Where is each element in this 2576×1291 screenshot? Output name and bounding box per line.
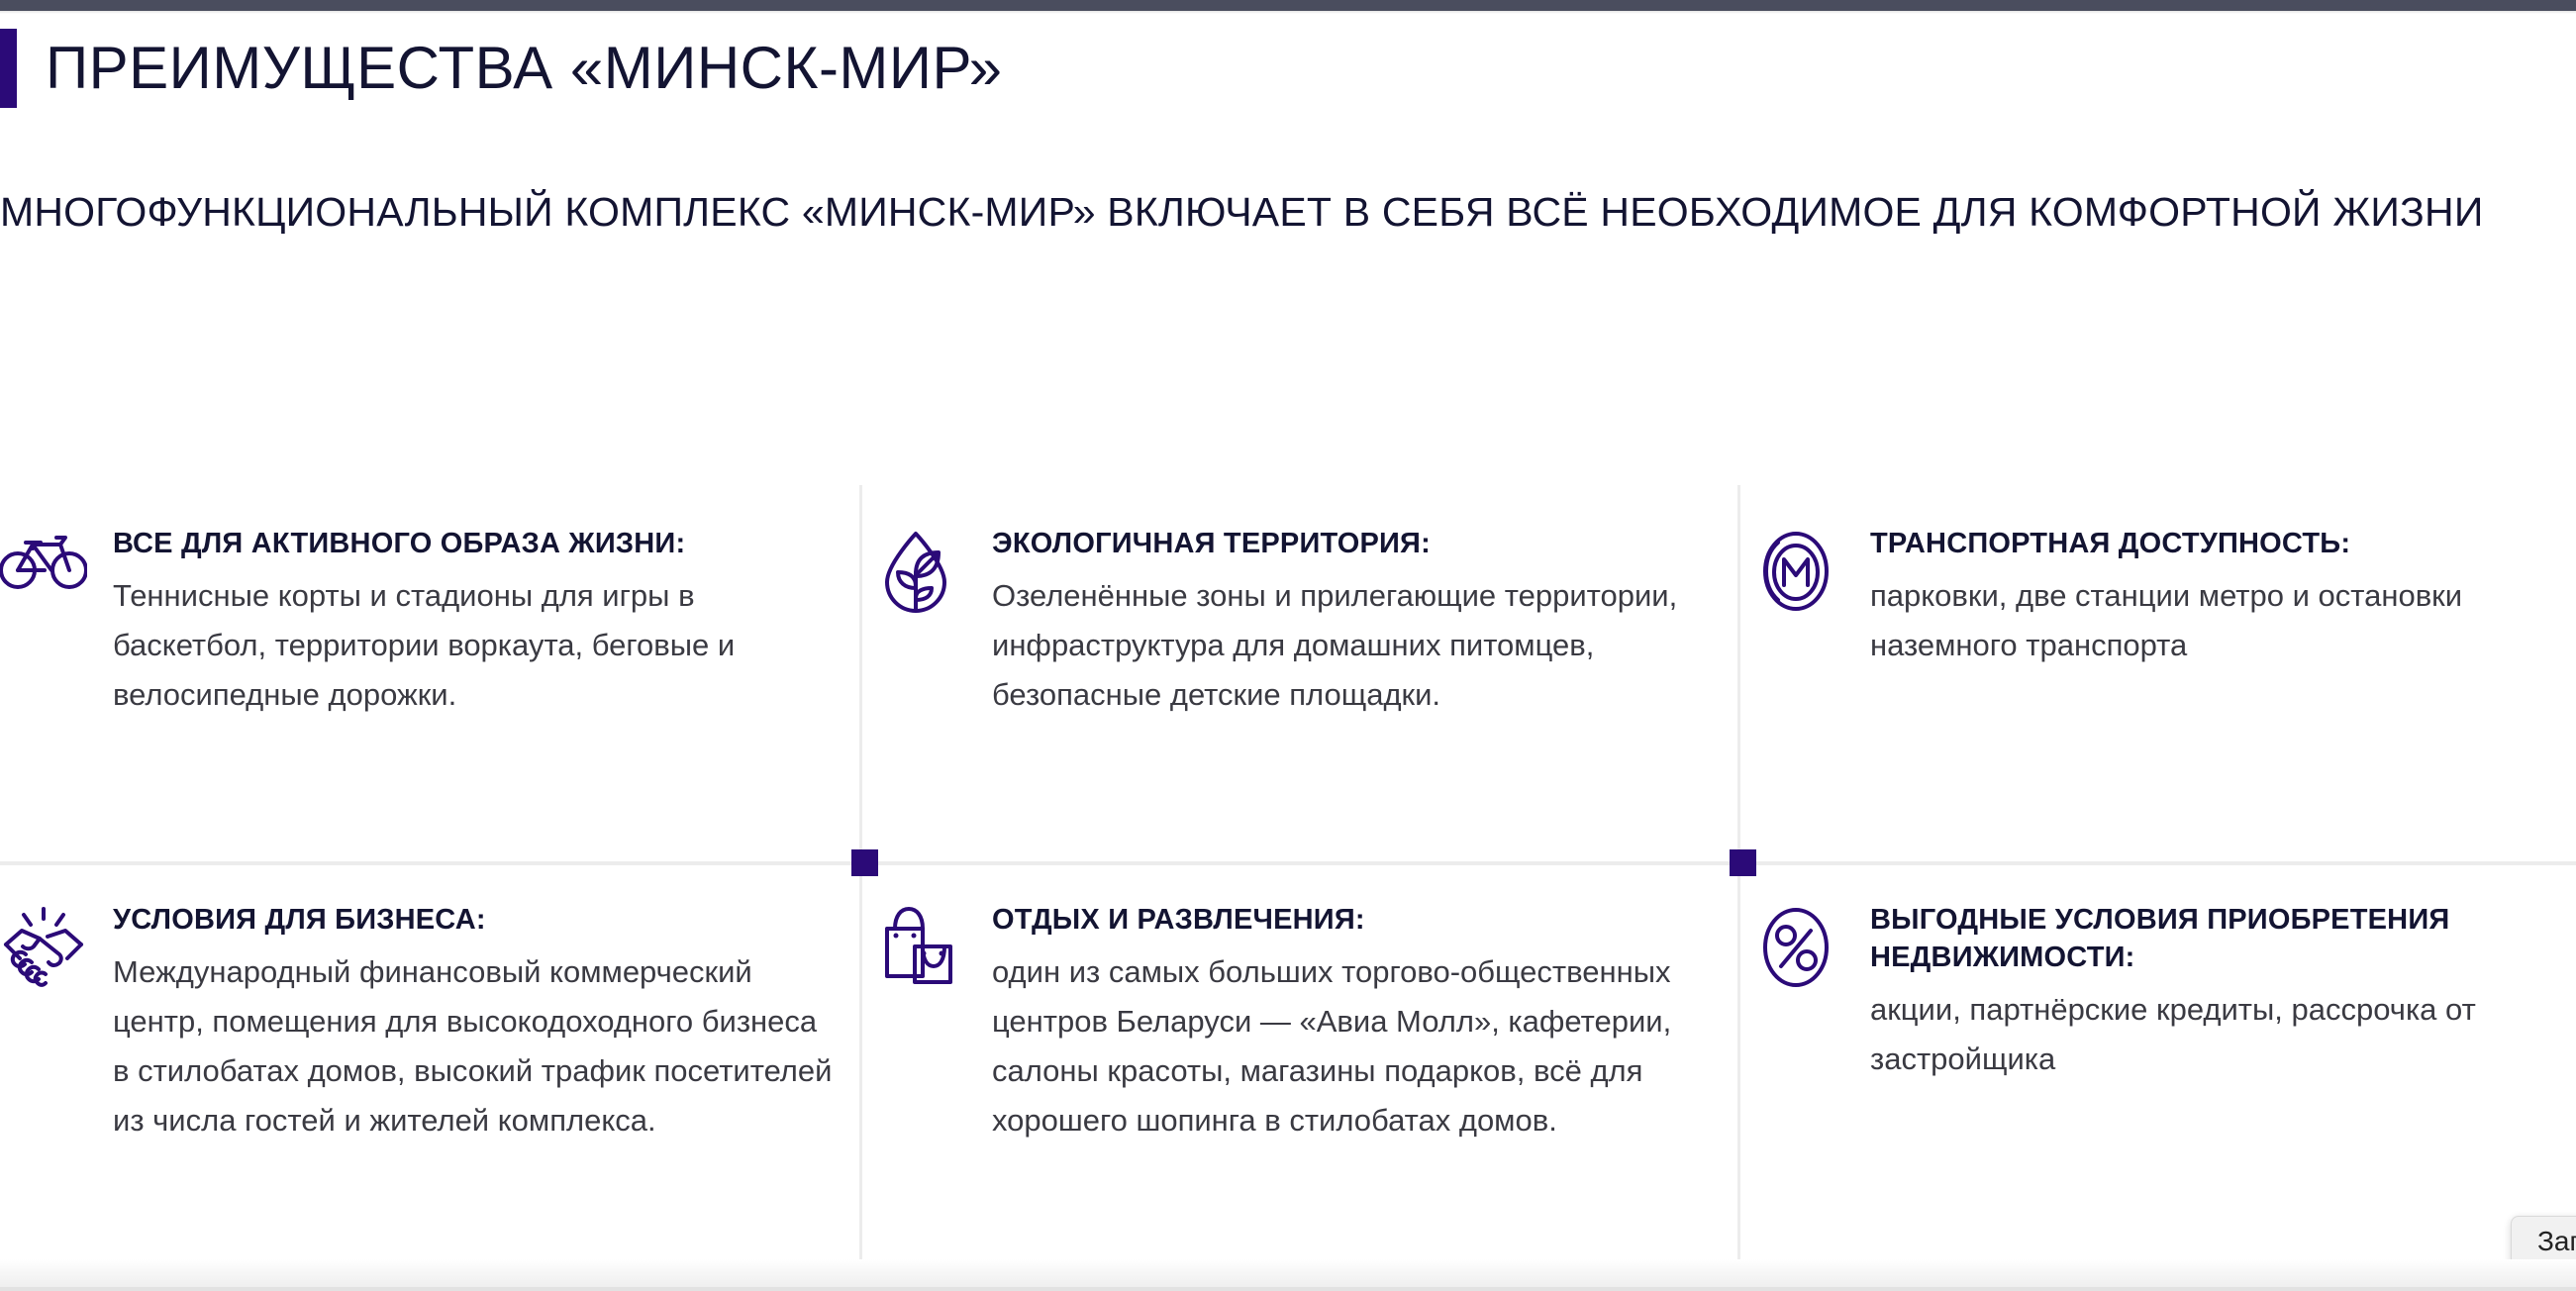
- feature-card-body: УСЛОВИЯ ДЛЯ БИЗНЕСА: Международный финан…: [113, 901, 842, 1145]
- feature-card-title: ВСЕ ДЛЯ АКТИВНОГО ОБРАЗА ЖИЗНИ:: [113, 525, 842, 562]
- feature-card-text: Озеленённые зоны и прилегающие территори…: [992, 571, 1721, 720]
- bicycle-icon: [0, 525, 91, 590]
- grid-marker-square-1: [851, 849, 878, 876]
- feature-card-body: ВСЕ ДЛЯ АКТИВНОГО ОБРАЗА ЖИЗНИ: Теннисны…: [113, 525, 842, 720]
- browser-chrome-shadow: [0, 11, 2576, 14]
- shopping-bag-icon: [879, 901, 970, 988]
- feature-card-text: Теннисные корты и стадионы для игры в ба…: [113, 571, 842, 720]
- heading-accent-bar: [0, 29, 17, 108]
- feature-card-title: ВЫГОДНЫЕ УСЛОВИЯ ПРИОБРЕТЕНИЯ НЕДВИЖИМОС…: [1870, 901, 2569, 976]
- feature-card-title: УСЛОВИЯ ДЛЯ БИЗНЕСА:: [113, 901, 842, 939]
- eco-leaf-droplet-icon: [879, 525, 970, 616]
- feature-card-transport-access[interactable]: ТРАНСПОРТНАЯ ДОСТУПНОСТЬ: парковки, две …: [1757, 525, 2569, 670]
- feature-card-purchase-conditions[interactable]: ВЫГОДНЫЕ УСЛОВИЯ ПРИОБРЕТЕНИЯ НЕДВИЖИМОС…: [1757, 901, 2569, 1084]
- percent-icon: [1757, 901, 1848, 990]
- feature-card-title: ЭКОЛОГИЧНАЯ ТЕРРИТОРИЯ:: [992, 525, 1721, 562]
- handshake-icon: [0, 901, 91, 990]
- feature-card-text: Международный финансовый коммерческий це…: [113, 947, 842, 1145]
- page-title: ПРЕИМУЩЕСТВА «МИНСК-МИР»: [46, 29, 1003, 108]
- feature-card-leisure-entertainment[interactable]: ОТДЫХ И РАЗВЛЕЧЕНИЯ: один из самых больш…: [879, 901, 1721, 1145]
- page-subtitle: МНОГОФУНКЦИОНАЛЬНЫЙ КОМПЛЕКС «МИНСК-МИР»…: [0, 182, 2554, 243]
- feature-card-body: ВЫГОДНЫЕ УСЛОВИЯ ПРИОБРЕТЕНИЯ НЕДВИЖИМОС…: [1870, 901, 2569, 1084]
- page-heading: ПРЕИМУЩЕСТВА «МИНСК-МИР»: [0, 29, 1003, 108]
- features-grid: ВСЕ ДЛЯ АКТИВНОГО ОБРАЗА ЖИЗНИ: Теннисны…: [0, 485, 2576, 1259]
- feature-card-text: акции, партнёрские кредиты, рассрочка от…: [1870, 985, 2569, 1084]
- feature-card-business-conditions[interactable]: УСЛОВИЯ ДЛЯ БИЗНЕСА: Международный финан…: [0, 901, 842, 1145]
- feature-card-body: ЭКОЛОГИЧНАЯ ТЕРРИТОРИЯ: Озеленённые зоны…: [992, 525, 1721, 720]
- browser-chrome-bar: [0, 0, 2576, 11]
- feature-card-body: ТРАНСПОРТНАЯ ДОСТУПНОСТЬ: парковки, две …: [1870, 525, 2569, 670]
- feature-card-text: один из самых больших торгово-общественн…: [992, 947, 1721, 1145]
- feature-card-eco-territory[interactable]: ЭКОЛОГИЧНАЯ ТЕРРИТОРИЯ: Озеленённые зоны…: [879, 525, 1721, 720]
- metro-icon: [1757, 525, 1848, 614]
- grid-marker-square-2: [1730, 849, 1756, 876]
- page-bottom-edge: [0, 1287, 2576, 1291]
- feature-card-title: ТРАНСПОРТНАЯ ДОСТУПНОСТЬ:: [1870, 525, 2569, 562]
- feature-card-title: ОТДЫХ И РАЗВЛЕЧЕНИЯ:: [992, 901, 1721, 939]
- grid-horizontal-divider: [0, 861, 2576, 865]
- feature-card-active-lifestyle[interactable]: ВСЕ ДЛЯ АКТИВНОГО ОБРАЗА ЖИЗНИ: Теннисны…: [0, 525, 842, 720]
- feature-card-body: ОТДЫХ И РАЗВЛЕЧЕНИЯ: один из самых больш…: [992, 901, 1721, 1145]
- feature-card-text: парковки, две станции метро и остановки …: [1870, 571, 2569, 670]
- page-root: ПРЕИМУЩЕСТВА «МИНСК-МИР» МНОГОФУНКЦИОНАЛ…: [0, 0, 2576, 1291]
